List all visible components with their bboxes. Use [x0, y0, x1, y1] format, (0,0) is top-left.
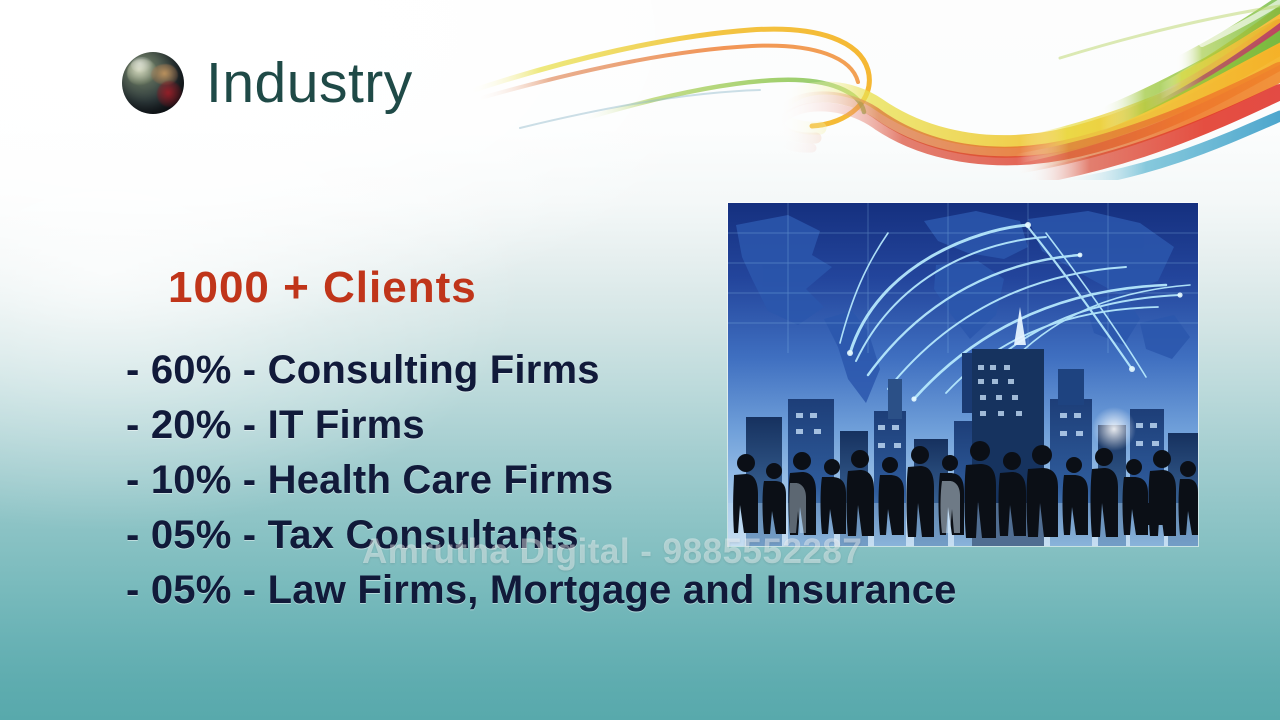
slide-title-row: Industry — [122, 52, 413, 114]
clients-headline: 1000 + Clients — [168, 266, 477, 310]
business-network-photo — [728, 203, 1198, 546]
page-title: Industry — [206, 55, 413, 112]
globe-icon — [122, 52, 184, 114]
rainbow-swoosh-icon — [460, 0, 1280, 180]
list-item: - 05% - Law Firms, Mortgage and Insuranc… — [126, 563, 1186, 618]
slide-canvas: Industry 1000 + Clients - 60% - Consulti… — [0, 0, 1280, 720]
